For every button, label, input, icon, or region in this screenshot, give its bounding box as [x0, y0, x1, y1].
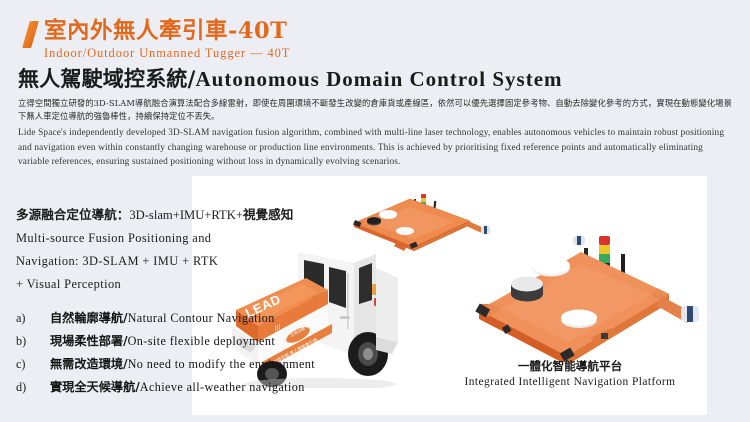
feature-title-tech: 3D-slam+IMU+RTK+: [129, 208, 243, 222]
slide-root: 室內外無人牽引車-40T Indoor/Outdoor Unmanned Tug…: [0, 0, 750, 422]
list-item-cn: 現場柔性部署: [50, 334, 123, 348]
list-item-text: 現場柔性部署/On-site flexible deployment: [50, 330, 275, 353]
list-item-text: 無需改造環境/No need to modify the environment: [50, 353, 315, 376]
body-paragraph-cn: 立得空間獨立研發的3D-SLAM導航融合演算法配合多線雷射，即使在周圍環境不斷發…: [18, 97, 732, 123]
page-title: 無人駕駛域控系統/Autonomous Domain Control Syste…: [18, 66, 563, 92]
header-title-en: Indoor/Outdoor Unmanned Tugger — 40T: [44, 45, 290, 61]
feature-title-cn2: 視覺感知: [243, 207, 293, 222]
list-item: c) 無需改造環境/No need to modify the environm…: [16, 353, 346, 376]
list-item-marker: a): [16, 307, 50, 330]
list-item-cn: 自然輪廓導航: [50, 311, 123, 325]
list-item-en: Achieve all-weather navigation: [140, 380, 305, 394]
header-text-group: 室內外無人牽引車-40T Indoor/Outdoor Unmanned Tug…: [44, 19, 290, 61]
list-item-text: 自然輪廓導航/Natural Contour Navigation: [50, 307, 275, 330]
caption-en: Integrated Intelligent Navigation Platfo…: [440, 374, 700, 391]
feature-title-cn: 多源融合定位導航：: [16, 207, 129, 222]
list-item-en: On-site flexible deployment: [128, 334, 276, 348]
accent-bar-icon: [22, 21, 39, 48]
image-caption: 一體化智能導航平台 Integrated Intelligent Navigat…: [440, 358, 700, 391]
caption-cn: 一體化智能導航平台: [440, 358, 700, 374]
page-title-cn: 無人駕駛域控系統: [18, 66, 188, 91]
feature-subtitle-line1: Multi-source Fusion Positioning and: [16, 227, 346, 250]
feature-subtitle-line3: + Visual Perception: [16, 273, 346, 296]
list-item-text: 實現全天候導航/Achieve all-weather navigation: [50, 376, 305, 399]
feature-block: 多源融合定位導航：3D-slam+IMU+RTK+視覺感知 Multi-sour…: [16, 203, 346, 399]
list-item-cn: 實現全天候導航: [50, 380, 135, 394]
list-item: a) 自然輪廓導航/Natural Contour Navigation: [16, 307, 346, 330]
list-item-marker: b): [16, 330, 50, 353]
list-item-marker: c): [16, 353, 50, 376]
feature-title: 多源融合定位導航：3D-slam+IMU+RTK+視覺感知: [16, 203, 346, 227]
list-item: d) 實現全天候導航/Achieve all-weather navigatio…: [16, 376, 346, 399]
body-paragraph-en: Lide Space's independently developed 3D-…: [18, 126, 732, 170]
feature-list: a) 自然輪廓導航/Natural Contour Navigation b) …: [16, 307, 346, 399]
slide-header: 室內外無人牽引車-40T Indoor/Outdoor Unmanned Tug…: [26, 19, 290, 61]
list-item-en: No need to modify the environment: [128, 357, 316, 371]
list-item-marker: d): [16, 376, 50, 399]
page-title-en: Autonomous Domain Control System: [195, 67, 562, 91]
feature-subtitle-line2: Navigation: 3D-SLAM + IMU + RTK: [16, 250, 346, 273]
list-item-cn: 無需改造環境: [50, 357, 123, 371]
list-item-en: Natural Contour Navigation: [128, 311, 275, 325]
header-title-cn: 室內外無人牽引車-40T: [44, 19, 290, 43]
list-item: b) 現場柔性部署/On-site flexible deployment: [16, 330, 346, 353]
